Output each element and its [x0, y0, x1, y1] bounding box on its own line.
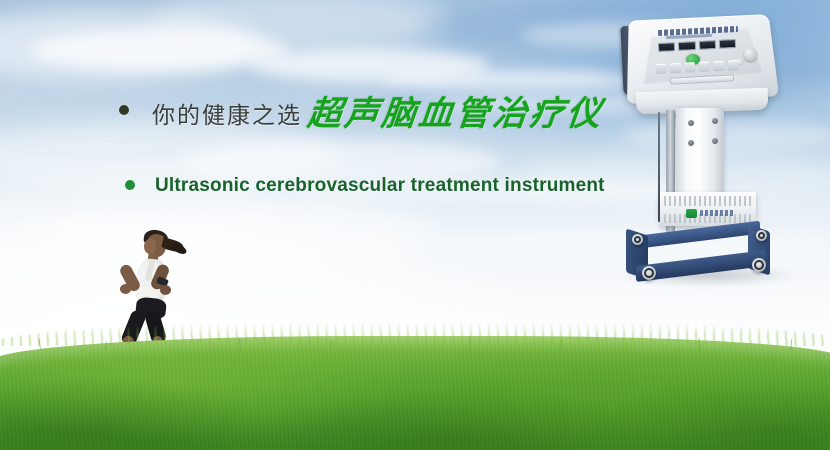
led-display: [658, 42, 676, 52]
runner-ponytail-tip: [171, 242, 188, 256]
panel-button[interactable]: [684, 62, 695, 72]
led-display: [698, 40, 716, 50]
grass-shading: [0, 336, 830, 450]
brand-badge-icon: [686, 209, 697, 218]
caster-wheel: [752, 258, 766, 272]
bullet-green-icon: [125, 180, 135, 190]
panel-button[interactable]: [713, 60, 724, 70]
column-screw: [688, 140, 694, 146]
basket-vents: [664, 196, 752, 206]
led-display: [678, 41, 696, 51]
caster-wheel: [642, 266, 656, 280]
brand-badge-text: [700, 210, 734, 216]
headline-chinese: 超声脑血管治疗仪: [305, 86, 606, 135]
cart-base: [626, 228, 786, 276]
ultrasonic-therapy-cart: [600, 14, 810, 324]
promo-banner: 你的健康之选 超声脑血管治疗仪 Ultrasonic cerebrovascul…: [0, 0, 830, 450]
caster-wheel: [632, 234, 643, 245]
bullet-dark-icon: [119, 105, 129, 115]
caster-wheel: [756, 230, 767, 241]
runner-back-fist: [120, 284, 131, 294]
column-screw: [688, 120, 694, 126]
panel-button[interactable]: [699, 61, 710, 71]
subheadline-chinese: 你的健康之选: [152, 96, 302, 130]
panel-button[interactable]: [656, 63, 667, 73]
panel-button[interactable]: [670, 62, 681, 72]
runner-front-fist: [160, 285, 171, 295]
panel-button[interactable]: [727, 59, 738, 69]
column-screw: [712, 138, 718, 144]
led-display: [718, 39, 736, 49]
headline-english: Ultrasonic cerebrovascular treatment ins…: [155, 175, 605, 197]
column-screw: [712, 118, 718, 124]
